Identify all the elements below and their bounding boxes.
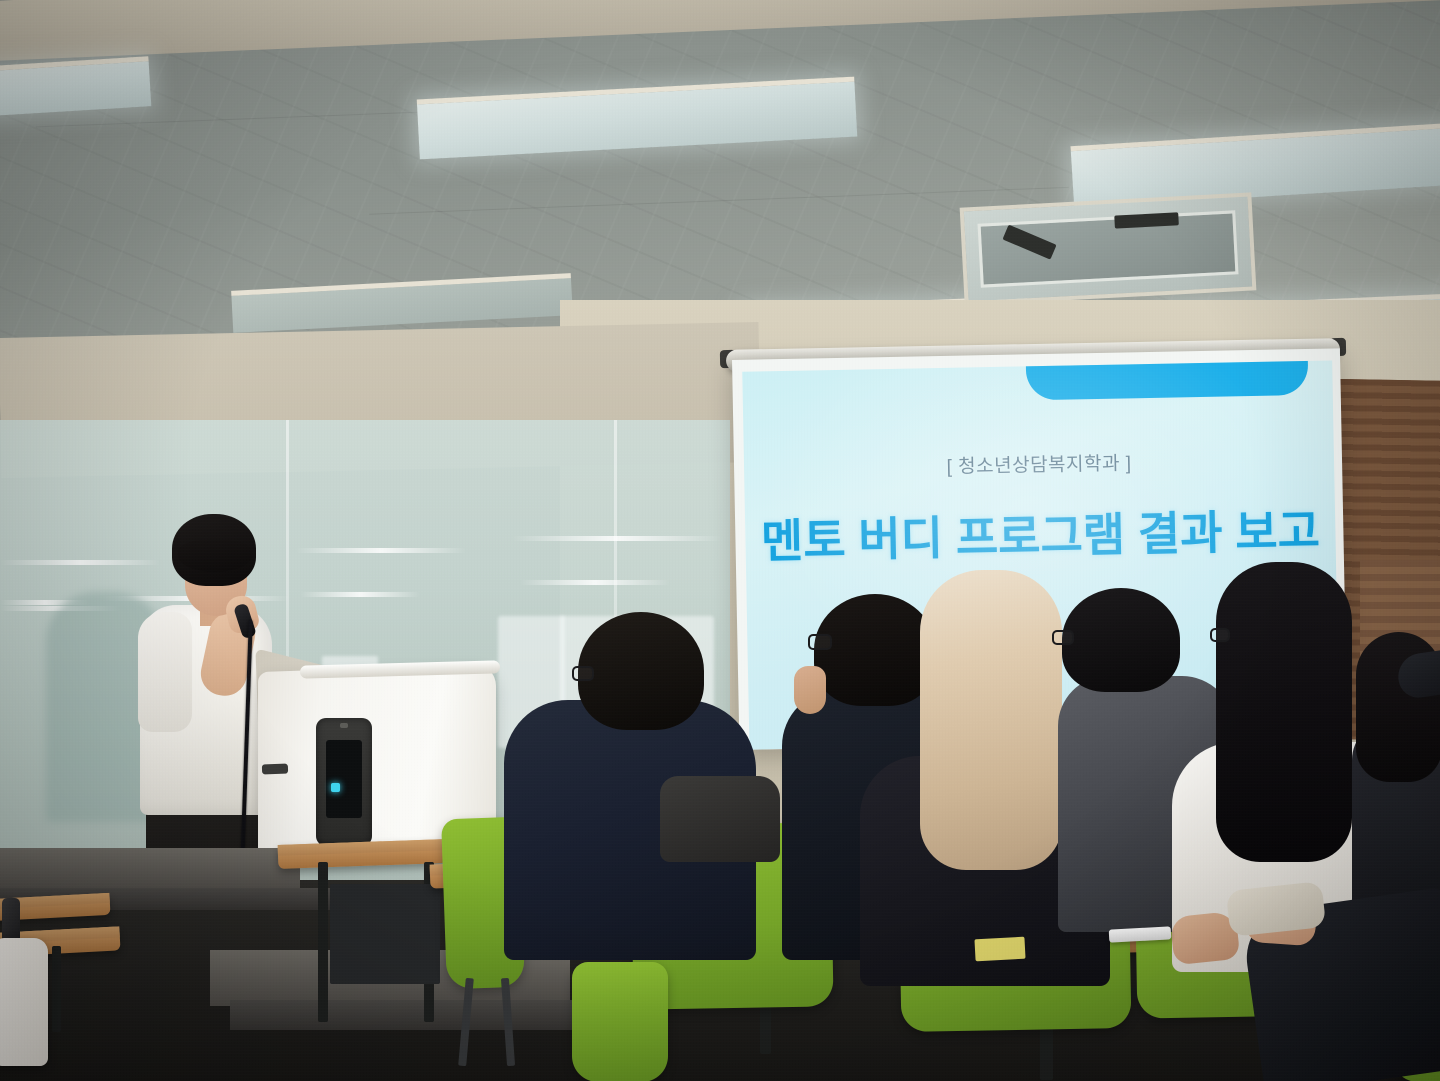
white-sanitizer-bottle xyxy=(0,938,48,1066)
ac-grille xyxy=(978,210,1239,287)
slide-accent-banner xyxy=(1025,360,1308,400)
rack-sensor xyxy=(340,723,348,728)
audience-hand-on-chin-glasses xyxy=(808,634,832,650)
audience-blonde-hair xyxy=(920,570,1062,870)
lectern-handle xyxy=(262,764,288,775)
glass-light-reflection-4 xyxy=(296,548,466,553)
audience-grey-jacket-hair xyxy=(1062,588,1180,692)
chair-center-2 xyxy=(572,962,668,1081)
presenter-hair-fringe xyxy=(178,540,252,572)
audience-white-blouse-glasses xyxy=(1210,628,1230,642)
rack-display xyxy=(326,740,362,818)
audience-navy-jacket-hair xyxy=(578,612,704,730)
slide-subtitle: [ 청소년상담복지학과 ] xyxy=(744,444,1334,482)
black-backpack xyxy=(660,776,780,862)
audience-hand-on-chin-hand xyxy=(794,666,826,714)
presenter-sleeve xyxy=(138,612,192,732)
desk-leg-center-1 xyxy=(318,862,328,1022)
audience-white-blouse-hair xyxy=(1216,562,1352,862)
glass-light-reflection-5 xyxy=(300,592,420,597)
yellow-sticky-note xyxy=(974,937,1025,962)
slide-title: 멘토 버디 프로그램 결과 보고 xyxy=(745,494,1336,571)
glass-light-reflection-1 xyxy=(0,560,160,565)
glass-light-reflection-6 xyxy=(512,536,722,541)
desk-modesty-panel-center xyxy=(330,884,440,984)
desk-leg-left xyxy=(52,946,61,1032)
audience-navy-jacket-glasses xyxy=(572,666,594,681)
audience-grey-jacket-glasses xyxy=(1052,630,1074,645)
glass-light-reflection-7 xyxy=(520,580,670,585)
ceiling-air-conditioner-cassette xyxy=(960,192,1257,305)
classroom-presentation-photo: [ 청소년상담복지학과 ] 멘토 버디 프로그램 결과 보고 xyxy=(0,0,1440,1081)
rack-power-led xyxy=(331,783,340,792)
audience-hand-on-chin-hair xyxy=(814,594,936,706)
